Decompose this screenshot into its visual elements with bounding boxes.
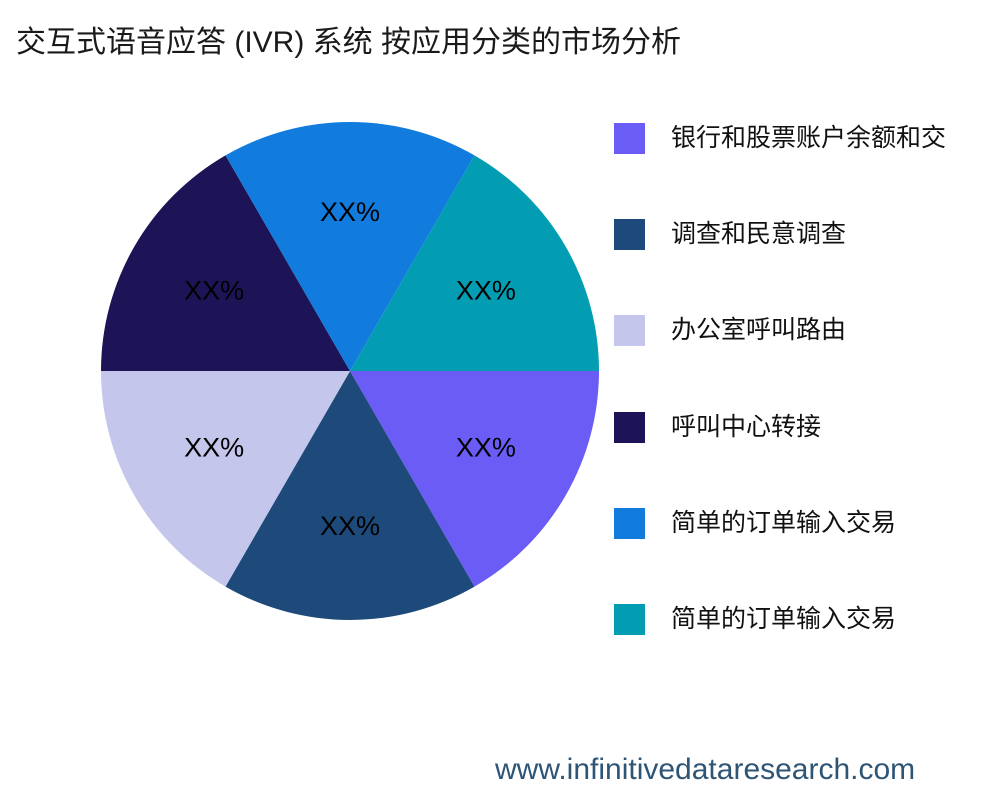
legend-label-2: 办公室呼叫路由: [671, 315, 846, 346]
legend-label-5: 简单的订单输入交易: [671, 604, 896, 635]
legend-item-4[interactable]: 简单的订单输入交易: [614, 507, 896, 539]
legend-label-0: 银行和股票账户余额和交: [671, 123, 946, 154]
legend: 银行和股票账户余额和交 调查和民意调查 办公室呼叫路由 呼叫中心转接 简单的订单…: [614, 122, 1000, 662]
pie-slice-label-1: XX%: [320, 511, 380, 541]
pie-chart-svg: XX%XX%XX%XX%XX%XX%: [101, 122, 599, 620]
legend-item-1[interactable]: 调查和民意调查: [614, 218, 846, 250]
pie-slice-label-2: XX%: [184, 433, 244, 463]
legend-item-3[interactable]: 呼叫中心转接: [614, 411, 821, 443]
legend-swatch-0: [614, 123, 645, 154]
legend-item-0[interactable]: 银行和股票账户余额和交: [614, 122, 946, 154]
legend-swatch-1: [614, 219, 645, 250]
legend-swatch-2: [614, 315, 645, 346]
legend-swatch-3: [614, 412, 645, 443]
legend-label-3: 呼叫中心转接: [671, 412, 821, 443]
pie-slice-label-4: XX%: [320, 197, 380, 227]
pie-slice-label-0: XX%: [456, 433, 516, 463]
legend-item-5[interactable]: 简单的订单输入交易: [614, 603, 896, 635]
legend-swatch-5: [614, 604, 645, 635]
page-title: 交互式语音应答 (IVR) 系统 按应用分类的市场分析: [16, 24, 681, 62]
legend-label-1: 调查和民意调查: [671, 219, 846, 250]
pie-slice-label-5: XX%: [456, 276, 516, 306]
legend-swatch-4: [614, 508, 645, 539]
pie-chart: XX%XX%XX%XX%XX%XX%: [101, 122, 599, 620]
site-url[interactable]: www.infinitivedataresearch.com: [495, 752, 915, 788]
pie-slice-label-3: XX%: [184, 276, 244, 306]
legend-item-2[interactable]: 办公室呼叫路由: [614, 314, 846, 346]
legend-label-4: 简单的订单输入交易: [671, 508, 896, 539]
